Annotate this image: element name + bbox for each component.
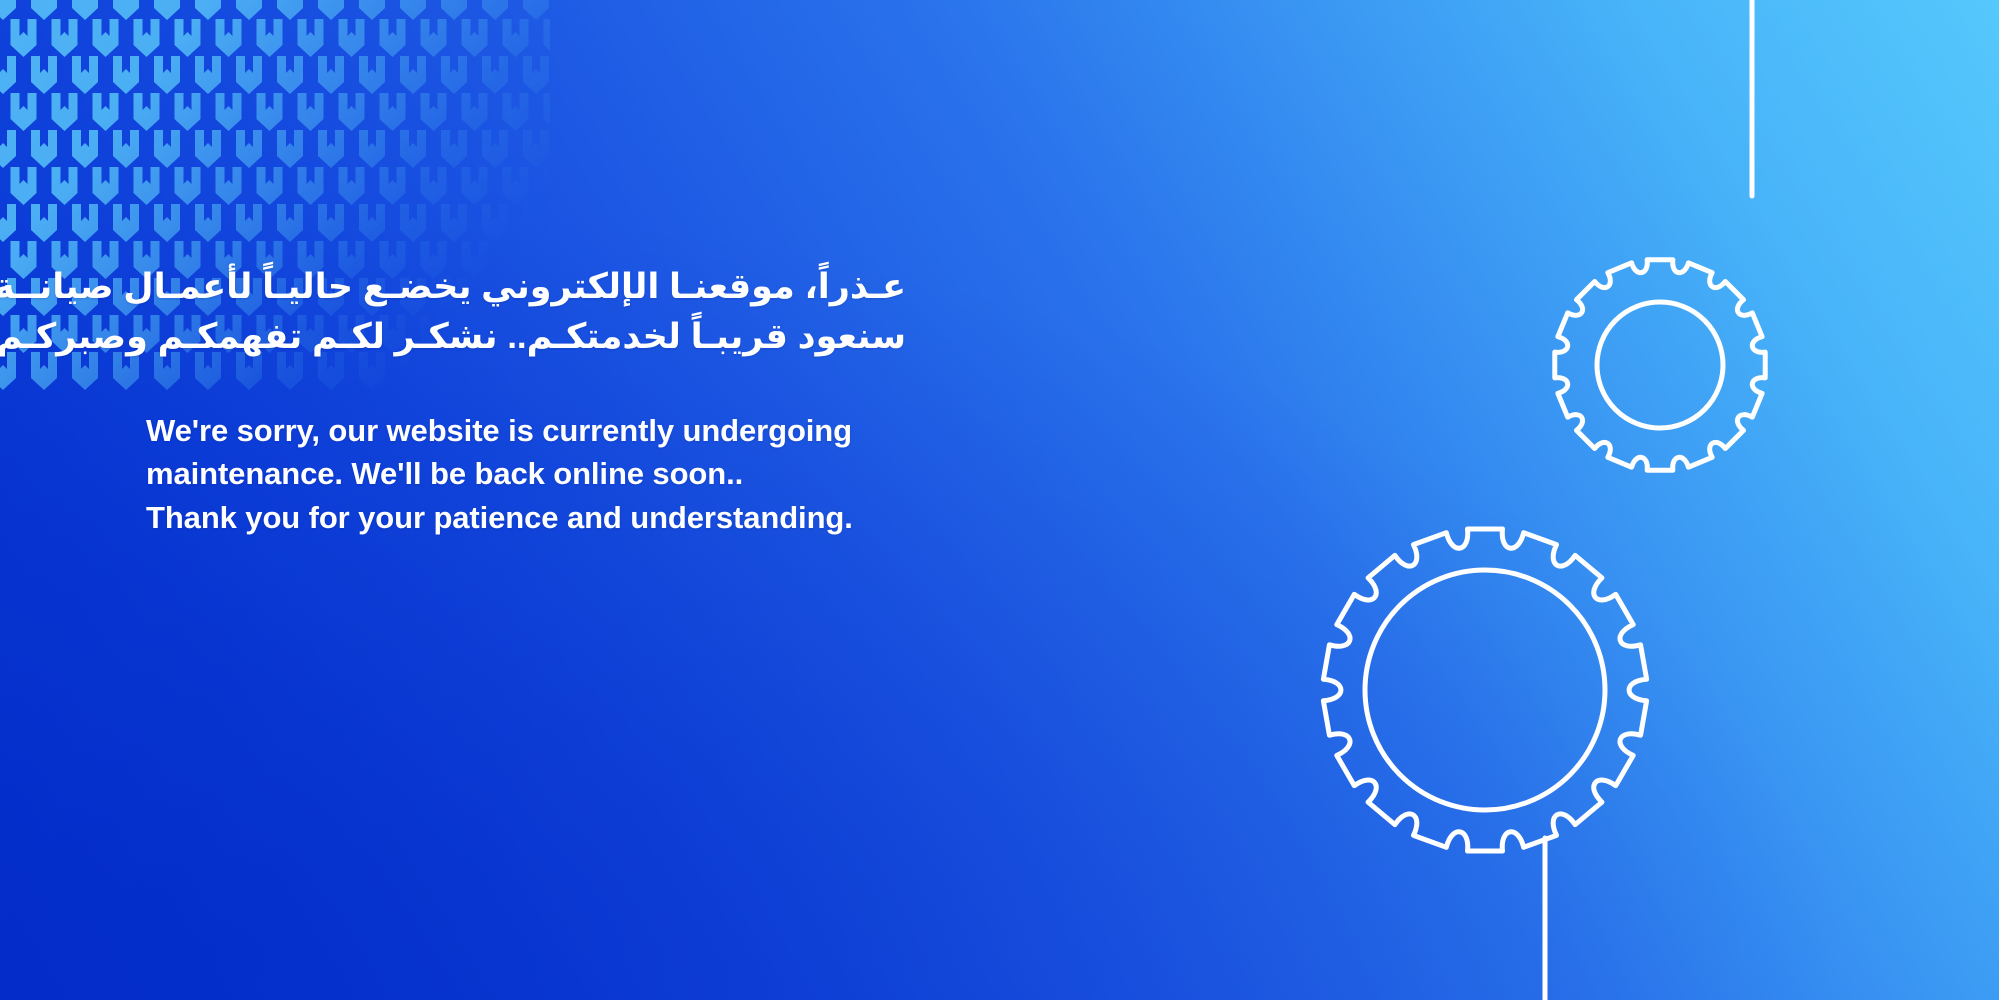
english-line-2: maintenance. We'll be back online soon.. — [146, 452, 906, 495]
english-line-3: Thank you for your patience and understa… — [146, 496, 906, 539]
english-message: We're sorry, our website is currently un… — [146, 409, 906, 539]
maintenance-message: عـذراً، موقعنـا الإلكتروني يخضـع حاليـاً… — [146, 262, 906, 539]
arabic-message: عـذراً، موقعنـا الإلكتروني يخضـع حاليـاً… — [146, 262, 906, 363]
english-line-1: We're sorry, our website is currently un… — [146, 409, 906, 452]
maintenance-page: عـذراً، موقعنـا الإلكتروني يخضـع حاليـاً… — [0, 0, 1999, 1000]
arabic-line-1: عـذراً، موقعنـا الإلكتروني يخضـع حاليـاً… — [146, 262, 906, 312]
arabic-line-2: سنعود قريبـاً لخدمتكـم.. نشكـر لكـم تفهم… — [146, 312, 906, 362]
